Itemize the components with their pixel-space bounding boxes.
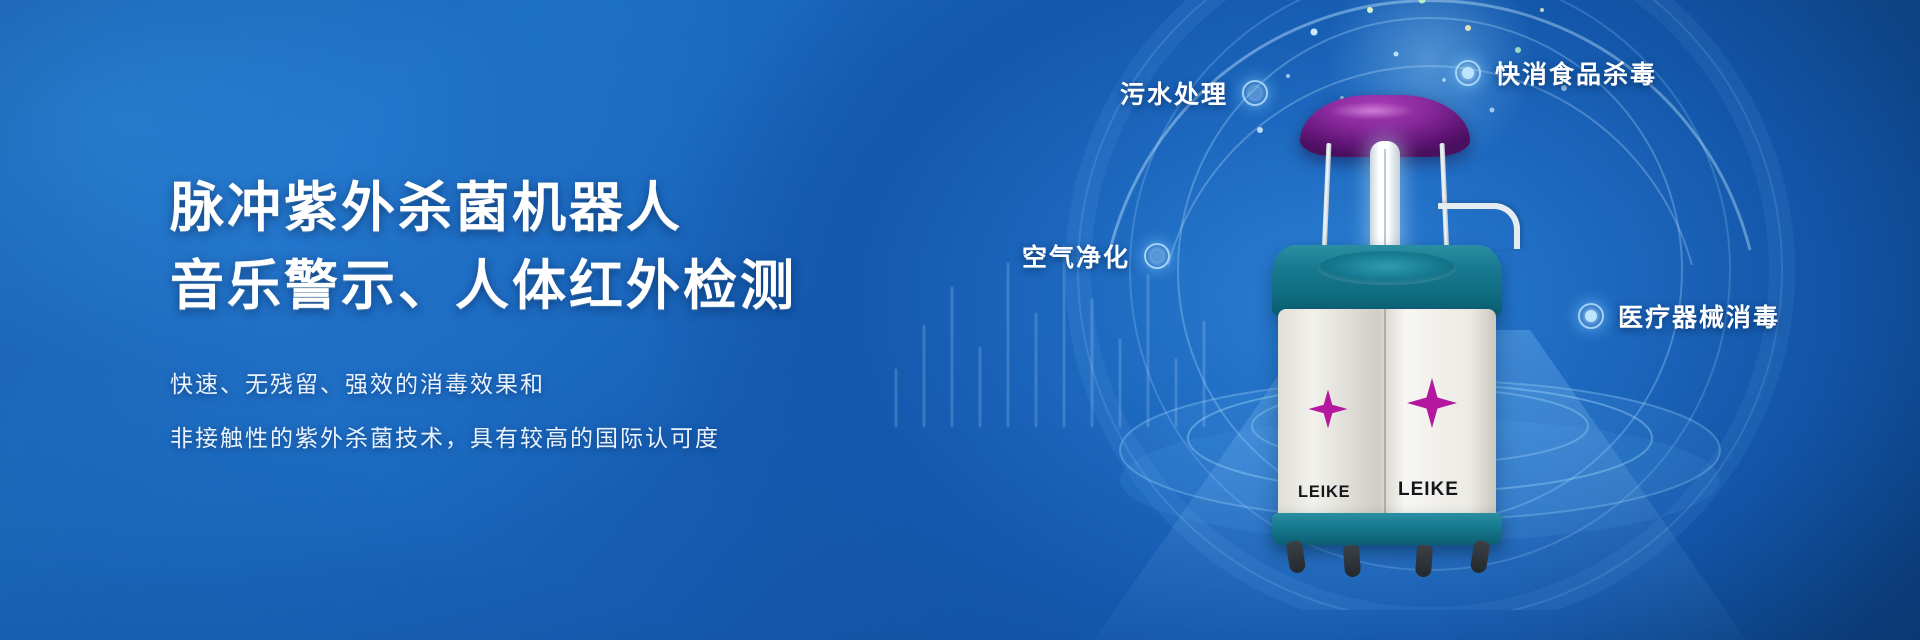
device-brand-right: LEIKE	[1398, 479, 1459, 501]
hero-banner: 脉冲紫外杀菌机器人 音乐警示、人体红外检测 快速、无残留、强效的消毒效果和 非接…	[0, 0, 1920, 640]
subtitle-line-1: 快速、无残留、强效的消毒效果和	[170, 358, 890, 412]
caster-wheel-icon	[1470, 540, 1491, 574]
lamp-support-rod-icon	[1322, 143, 1332, 255]
callout-medical: 医疗器械消毒	[1578, 298, 1780, 334]
sparkle-star-icon	[1406, 377, 1458, 429]
subtitle-block: 快速、无残留、强效的消毒效果和 非接触性的紫外杀菌技术，具有较高的国际认可度	[170, 358, 890, 466]
caster-wheel-icon	[1343, 544, 1361, 577]
callout-air: 空气净化	[1022, 238, 1170, 274]
uv-robot-illustration: LEIKE LEIKE	[1240, 95, 1540, 575]
device-top-disc	[1318, 251, 1456, 285]
node-dot-icon	[1578, 303, 1604, 329]
node-dot-icon	[1455, 60, 1481, 86]
device-body-edge	[1384, 309, 1386, 521]
headline-line-2: 音乐警示、人体红外检测	[170, 246, 890, 324]
handle-icon	[1438, 203, 1520, 249]
headline-block: 脉冲紫外杀菌机器人 音乐警示、人体红外检测 快速、无残留、强效的消毒效果和 非接…	[170, 168, 890, 466]
sparkle-star-icon	[1308, 389, 1349, 430]
caster-wheel-icon	[1415, 544, 1433, 577]
callout-food: 快消食品杀毒	[1455, 55, 1657, 91]
cap-highlight	[1328, 100, 1438, 122]
subtitle-line-2: 非接触性的紫外杀菌技术，具有较高的国际认可度	[170, 412, 890, 466]
callout-wastewater-label: 污水处理	[1120, 75, 1228, 111]
callout-medical-label: 医疗器械消毒	[1618, 298, 1780, 334]
callout-food-label: 快消食品杀毒	[1495, 55, 1657, 91]
lamp-seam	[1384, 149, 1386, 253]
callout-air-label: 空气净化	[1022, 238, 1130, 274]
node-dot-icon	[1144, 243, 1170, 269]
headline-line-1: 脉冲紫外杀菌机器人	[170, 168, 890, 246]
caster-wheel-icon	[1286, 540, 1307, 574]
device-base	[1272, 513, 1502, 545]
device-brand-left: LEIKE	[1298, 483, 1350, 502]
